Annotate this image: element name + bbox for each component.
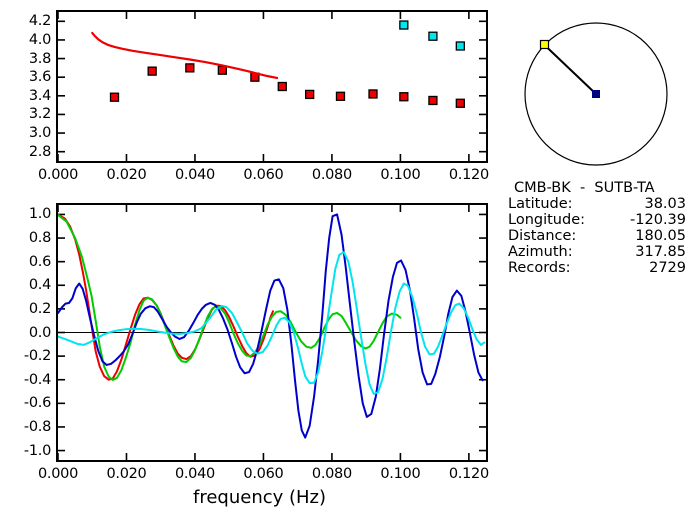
info-value: 2729	[649, 260, 696, 276]
center-marker-icon	[593, 91, 600, 98]
data-point-marker	[400, 93, 408, 101]
dispersion-plot-frame	[56, 10, 488, 163]
figure-canvas: 2.83.03.23.43.63.84.04.2 0.0000.0200.040…	[0, 0, 696, 519]
data-point-marker	[456, 99, 464, 107]
info-label: Latitude:	[508, 196, 573, 212]
waveform-plot-frame	[56, 203, 488, 462]
y-tick-label: -0.8	[0, 419, 51, 435]
info-row-latitude: Latitude:38.03	[508, 196, 696, 212]
info-label: Distance:	[508, 228, 576, 244]
y-tick-label: 3.0	[0, 125, 51, 141]
data-point-marker	[148, 67, 156, 75]
data-point-marker	[456, 42, 464, 50]
y-tick-label: 3.8	[0, 51, 51, 67]
info-row-longitude: Longitude:-120.39	[508, 212, 696, 228]
series-line-trace-cyan	[58, 252, 484, 394]
info-value: 38.03	[644, 196, 696, 212]
y-tick-label: 3.4	[0, 88, 51, 104]
y-tick-label: -0.2	[0, 348, 51, 364]
y-tick-label: 0.8	[0, 230, 51, 246]
data-point-marker	[306, 90, 314, 98]
x-tick-label: 0.120	[449, 466, 489, 482]
x-tick-label: 0.100	[380, 167, 420, 183]
y-tick-label: 0.6	[0, 254, 51, 270]
x-tick-label: 0.040	[175, 466, 215, 482]
y-tick-label: 2.8	[0, 144, 51, 160]
info-value: 317.85	[635, 244, 696, 260]
x-tick-label: 0.060	[243, 466, 283, 482]
ray-path-line	[545, 45, 597, 94]
data-point-marker	[429, 96, 437, 104]
x-axis-title: frequency (Hz)	[193, 487, 326, 508]
x-tick-label: 0.040	[175, 167, 215, 183]
y-tick-label: 0.0	[0, 325, 51, 341]
info-value: -120.39	[630, 212, 696, 228]
y-tick-label: -0.6	[0, 395, 51, 411]
x-tick-label: 0.060	[243, 167, 283, 183]
info-row-azimuth: Azimuth:317.85	[508, 244, 696, 260]
x-tick-label: 0.020	[106, 167, 146, 183]
y-tick-label: 3.2	[0, 106, 51, 122]
data-point-marker	[336, 92, 344, 100]
data-point-marker	[218, 66, 226, 74]
data-point-marker	[429, 32, 437, 40]
station-pair-fields: Latitude:38.03Longitude:-120.39Distance:…	[508, 196, 696, 276]
x-tick-label: 0.080	[312, 167, 352, 183]
x-tick-label: 0.000	[38, 167, 78, 183]
y-tick-label: 4.0	[0, 32, 51, 48]
x-tick-label: 0.000	[38, 466, 78, 482]
x-tick-label: 0.120	[449, 167, 489, 183]
y-tick-label: 1.0	[0, 206, 51, 222]
data-point-marker	[278, 83, 286, 91]
y-tick-label: 3.6	[0, 69, 51, 85]
x-tick-label: 0.020	[106, 466, 146, 482]
station-marker-icon	[541, 41, 549, 49]
info-label: Azimuth:	[508, 244, 573, 260]
data-point-marker	[400, 21, 408, 29]
info-label: Longitude:	[508, 212, 585, 228]
data-point-marker	[369, 90, 377, 98]
y-tick-label: -1.0	[0, 443, 51, 459]
y-tick-label: 0.4	[0, 277, 51, 293]
info-row-distance: Distance:180.05	[508, 228, 696, 244]
y-tick-label: -0.4	[0, 372, 51, 388]
data-point-marker	[110, 93, 118, 101]
station-pair-info: CMB-BK - SUTB-TA Latitude:38.03Longitude…	[508, 180, 696, 276]
info-row-records: Records:2729	[508, 260, 696, 276]
y-tick-label: 0.2	[0, 301, 51, 317]
station-pair-title: CMB-BK - SUTB-TA	[514, 180, 696, 196]
waveform-plot-svg	[58, 205, 486, 460]
series-line-trace-red	[58, 214, 273, 379]
info-value: 180.05	[635, 228, 696, 244]
geometry-map-svg	[508, 14, 688, 174]
data-point-marker	[186, 64, 194, 72]
y-tick-label: 4.2	[0, 13, 51, 29]
geometry-map-container	[508, 14, 688, 174]
x-tick-label: 0.080	[312, 466, 352, 482]
info-label: Records:	[508, 260, 571, 276]
x-tick-label: 0.100	[380, 466, 420, 482]
series-line-reference-dispersion-curve	[92, 33, 277, 78]
dispersion-plot-svg	[58, 12, 486, 161]
